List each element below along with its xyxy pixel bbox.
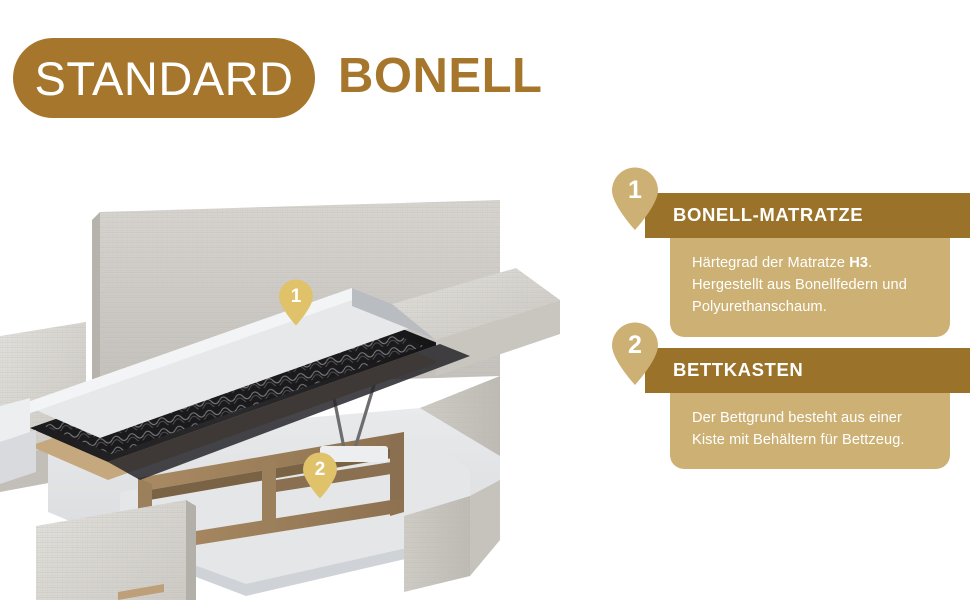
page-header: STANDARD BONELL — [0, 0, 970, 140]
bed-illustration — [0, 140, 600, 600]
photo-pin-2-number: 2 — [300, 451, 340, 488]
product-photo: 1 2 — [0, 140, 600, 600]
photo-pin-1[interactable]: 1 — [276, 278, 316, 326]
callout-2-title: BETTKASTEN — [673, 361, 803, 380]
standard-badge: STANDARD — [13, 38, 315, 118]
callout-1-text-strong: H3 — [849, 255, 868, 271]
callout-list: BONELL-MATRATZE Härtegrad der Matratze H… — [600, 140, 970, 470]
standard-badge-label: STANDARD — [34, 55, 293, 102]
callout-1-title: BONELL-MATRATZE — [673, 206, 863, 225]
callout-1-body: Härtegrad der Matratze H3. Hergestellt a… — [670, 238, 950, 337]
photo-pin-2[interactable]: 2 — [300, 451, 340, 499]
photo-pin-1-number: 1 — [276, 278, 316, 315]
callout-2-body: Der Bettgrund besteht aus einer Kiste mi… — [670, 393, 950, 469]
callout-2-description: Der Bettgrund besteht aus einer Kiste mi… — [692, 407, 928, 451]
callout-2-text-prefix: Der Bettgrund besteht aus einer Kiste mi… — [692, 410, 905, 448]
callout-2-pin[interactable]: 2 — [608, 320, 662, 386]
callout-1-number: 1 — [608, 165, 662, 216]
callout-1-description: Härtegrad der Matratze H3. Hergestellt a… — [692, 252, 928, 319]
callout-1-text-prefix: Härtegrad der Matratze — [692, 255, 849, 271]
page-title: BONELL — [338, 50, 542, 104]
callout-1-pin[interactable]: 1 — [608, 165, 662, 231]
infographic-root: STANDARD BONELL — [0, 0, 970, 600]
callout-1-header: BONELL-MATRATZE — [645, 193, 970, 238]
callout-2-number: 2 — [608, 320, 662, 371]
callout-2-header: BETTKASTEN — [645, 348, 970, 393]
